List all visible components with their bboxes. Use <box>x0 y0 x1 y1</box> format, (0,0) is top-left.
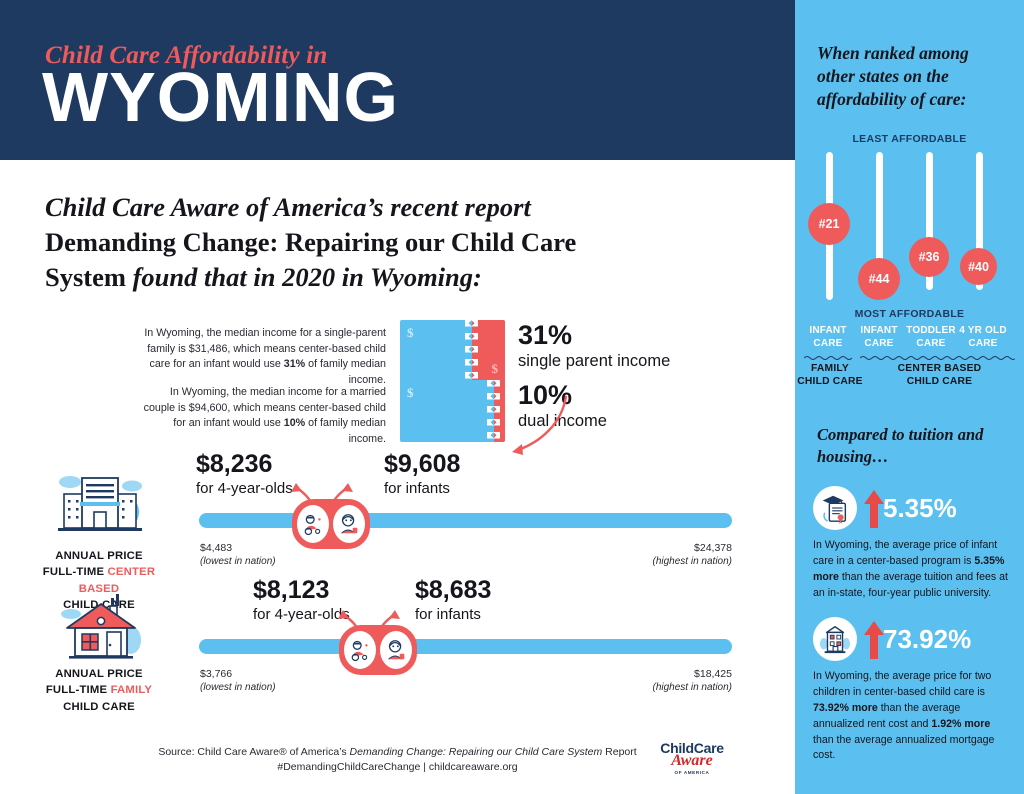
rank-name-1-line1: INFANT <box>799 325 857 338</box>
group-family-line1: FAMILY <box>795 362 865 375</box>
rank-name-1: INFANT CARE <box>799 325 857 350</box>
housing-percent: 73.92% <box>883 619 971 659</box>
family-high-range: $18,425 (highest in nation) <box>653 667 733 695</box>
family-label-line3: CHILD CARE <box>24 699 174 715</box>
most-affordable-label: MOST AFFORDABLE <box>795 308 1024 320</box>
income-text-single: In Wyoming, the median income for a sing… <box>138 326 386 388</box>
toddler-icon-2 <box>342 629 378 671</box>
family-infant-caption: for infants <box>415 606 491 624</box>
center-child-markers <box>292 499 370 549</box>
dollar-sign-icon-3: $ <box>407 385 414 401</box>
income-text-single-c: of family median income. <box>305 358 386 386</box>
source-text: Source: Child Care Aware® of America’s D… <box>158 745 636 777</box>
family-low-range: $3,766 (lowest in nation) <box>200 667 276 695</box>
center-infant-value: $9,608 <box>384 452 460 477</box>
sidebar-heading: When ranked among other states on the af… <box>817 42 1007 111</box>
rank-badge-center-infant: #44 <box>858 258 900 300</box>
intro-paragraph: Child Care Aware of America’s recent rep… <box>45 190 695 295</box>
source-report-title: Demanding Change: Repairing our Child Ca… <box>350 746 603 758</box>
dollar-sign-icon: $ <box>407 325 414 341</box>
up-arrow-icon <box>863 488 885 530</box>
family-label-line2a: FULL-TIME <box>46 684 111 696</box>
tuition-body-c: than the average tuition and fees at an … <box>813 571 1008 599</box>
center-based-label-line2a: FULL-TIME <box>43 566 108 578</box>
intro-line-3-report: System <box>45 262 133 292</box>
source-text-a: Source: Child Care Aware® of America’s <box>158 746 349 758</box>
center-low-note: (lowest in nation) <box>200 555 276 569</box>
receipt-tear-edge <box>465 320 478 382</box>
family-child-markers <box>339 625 417 675</box>
center-price-track <box>199 513 732 528</box>
center-low-range: $4,483 (lowest in nation) <box>200 541 276 569</box>
tuition-body-a: In Wyoming, the average price of infant … <box>813 539 997 567</box>
single-parent-percent: 31% <box>518 322 670 349</box>
income-text-dual-c: of family median income. <box>305 417 386 445</box>
housing-body: In Wyoming, the average price for two ch… <box>813 669 1013 764</box>
center-four-year-value: $8,236 <box>196 452 293 477</box>
center-high-value: $24,378 <box>653 541 733 555</box>
wave-divider-family <box>804 355 854 360</box>
family-high-value: $18,425 <box>653 667 733 681</box>
family-label-line1: ANNUAL PRICE <box>24 666 174 682</box>
rank-name-1-line2: CARE <box>799 338 857 351</box>
rank-badge-4yr: #40 <box>960 248 997 285</box>
wave-divider-center <box>860 355 1015 360</box>
family-price-track <box>199 639 732 654</box>
income-text-dual-pct: 10% <box>284 417 305 429</box>
callout-arrow-infant-center <box>462 390 572 462</box>
infographic-page: Child Care Affordability in WYOMING Chil… <box>0 0 1024 794</box>
family-label: ANNUAL PRICE FULL-TIME FAMILY CHILD CARE <box>24 666 174 715</box>
rank-badge-family-infant: #21 <box>808 203 850 245</box>
logo-line-2: Aware <box>671 753 712 769</box>
comparison-housing: 73.92% In Wyoming, the average price for… <box>813 617 1013 764</box>
single-parent-percent-block: 31% single parent income <box>518 322 670 372</box>
group-center-line2: CHILD CARE <box>867 375 1012 388</box>
infant-icon <box>331 503 367 545</box>
sidebar: When ranked among other states on the af… <box>795 0 1024 794</box>
house-icon <box>55 592 147 666</box>
rank-name-4: 4 YR OLD CARE <box>952 325 1014 350</box>
family-high-note: (highest in nation) <box>653 681 733 695</box>
center-four-year-block: $8,236 for 4-year-olds <box>196 452 293 498</box>
page-header: Child Care Affordability in WYOMING <box>0 0 795 160</box>
logo-line-3: OF AMERICA <box>675 770 710 775</box>
rank-name-4-line2: CARE <box>952 338 1014 351</box>
center-high-note: (highest in nation) <box>653 555 733 569</box>
center-based-label-line1: ANNUAL PRICE <box>24 548 174 564</box>
source-text-c: Report <box>602 746 636 758</box>
rank-badge-toddler: #36 <box>909 237 949 277</box>
center-high-range: $24,378 (highest in nation) <box>653 541 733 569</box>
up-arrow-icon-2 <box>863 619 885 661</box>
group-center-line1: CENTER BASED <box>867 362 1012 375</box>
main-column: Child Care Affordability in WYOMING Chil… <box>0 0 795 794</box>
diploma-icon <box>813 486 857 530</box>
single-parent-percent-caption: single parent income <box>518 352 670 372</box>
family-low-note: (lowest in nation) <box>200 681 276 695</box>
family-low-value: $3,766 <box>200 667 276 681</box>
office-building-icon <box>52 468 148 540</box>
housing-body-e: than the average annualized mortgage cos… <box>813 734 994 762</box>
center-infant-block: $9,608 for infants <box>384 452 460 498</box>
income-text-dual: In Wyoming, the median income for a marr… <box>138 385 386 447</box>
apartment-icon <box>813 617 857 661</box>
intro-line-1: Child Care Aware of America’s recent rep… <box>45 192 531 222</box>
family-infant-block: $8,683 for infants <box>415 578 491 624</box>
source-hashtag-line: #DemandingChildCareChange | childcareawa… <box>158 760 636 776</box>
tuition-percent: 5.35% <box>883 488 957 528</box>
group-family-line2: CHILD CARE <box>795 375 865 388</box>
infant-icon-2 <box>378 629 414 671</box>
group-name-center: CENTER BASED CHILD CARE <box>867 362 1012 389</box>
intro-line-3-found: found that in 2020 in Wyoming: <box>133 262 482 292</box>
receipt-single-parent: $ $ <box>400 320 505 382</box>
family-infant-value: $8,683 <box>415 578 491 603</box>
center-low-value: $4,483 <box>200 541 276 555</box>
housing-body-a: In Wyoming, the average price for two ch… <box>813 670 991 698</box>
center-infant-caption: for infants <box>384 480 460 498</box>
rank-name-4-line1: 4 YR OLD <box>952 325 1014 338</box>
income-text-single-pct: 31% <box>284 358 305 370</box>
family-label-line2b: FAMILY <box>111 684 153 696</box>
housing-body-d: 1.92% more <box>931 718 990 730</box>
toddler-icon <box>295 503 331 545</box>
intro-line-2: Demanding Change: Repairing our Child Ca… <box>45 227 576 257</box>
childcare-aware-logo: ChildCare Aware OF AMERICA <box>649 738 735 778</box>
tuition-body: In Wyoming, the average price of infant … <box>813 538 1013 602</box>
housing-body-b: 73.92% more <box>813 702 878 714</box>
dollar-sign-icon-2: $ <box>492 361 499 377</box>
center-four-year-caption: for 4-year-olds <box>196 480 293 498</box>
compare-heading: Compared to tuition and housing… <box>817 424 1012 468</box>
comparison-tuition: 5.35% In Wyoming, the average price of i… <box>813 486 1013 602</box>
least-affordable-label: LEAST AFFORDABLE <box>795 133 1024 145</box>
page-title: WYOMING <box>42 62 399 132</box>
group-name-family: FAMILY CHILD CARE <box>795 362 865 389</box>
